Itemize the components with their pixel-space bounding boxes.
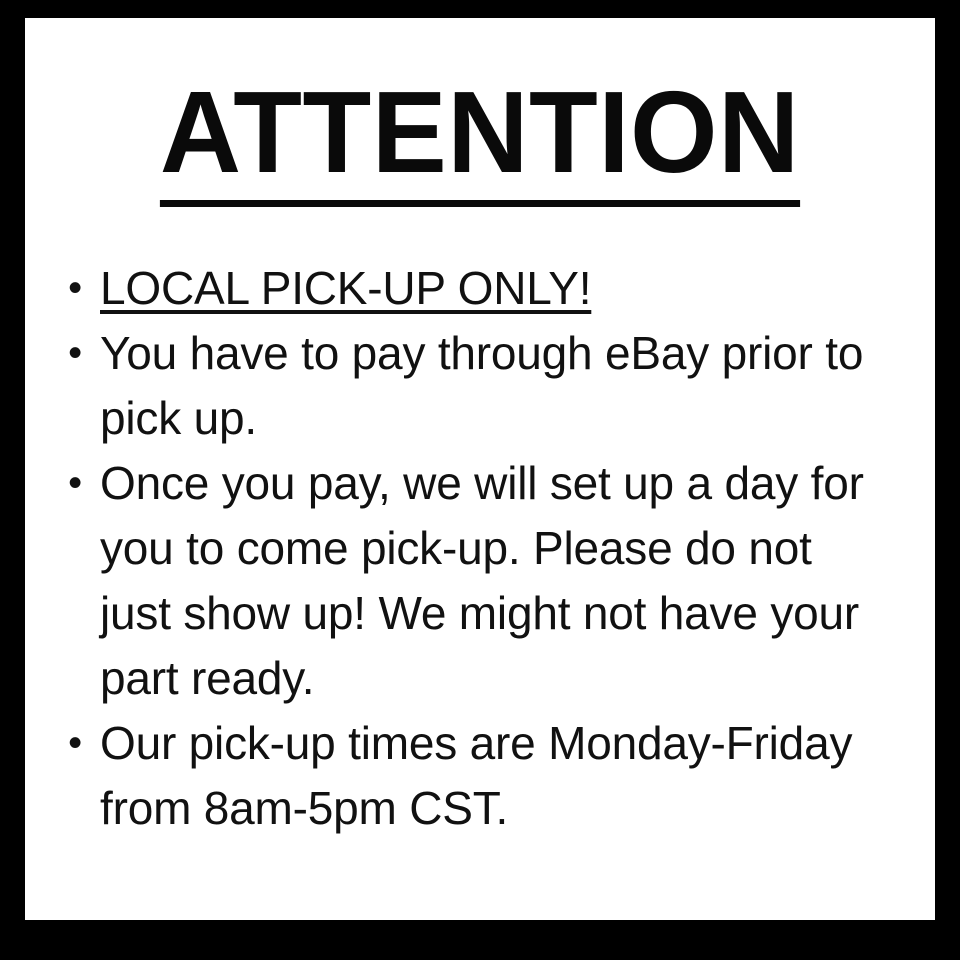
notice-frame: ATTENTION • LOCAL PICK-UP ONLY! • You ha…: [0, 0, 960, 960]
list-item: • LOCAL PICK-UP ONLY!: [25, 256, 935, 321]
notice-bullet-list: • LOCAL PICK-UP ONLY! • You have to pay …: [25, 256, 935, 841]
list-item: • Once you pay, we will set up a day for…: [25, 451, 935, 711]
bullet-icon: •: [64, 451, 86, 516]
list-item-label: Our pick-up times are Monday-Friday from…: [100, 717, 852, 834]
page-title-text: ATTENTION: [160, 74, 800, 207]
list-item-label: LOCAL PICK-UP ONLY!: [100, 262, 591, 314]
notice-card: ATTENTION • LOCAL PICK-UP ONLY! • You ha…: [25, 18, 935, 920]
bullet-icon: •: [64, 256, 86, 321]
list-item-label: You have to pay through eBay prior to pi…: [100, 327, 863, 444]
list-item-label: Once you pay, we will set up a day for y…: [100, 457, 864, 704]
bullet-icon: •: [64, 711, 86, 776]
bullet-icon: •: [64, 321, 86, 386]
page-title: ATTENTION: [25, 74, 935, 207]
list-item: • You have to pay through eBay prior to …: [25, 321, 935, 451]
list-item: • Our pick-up times are Monday-Friday fr…: [25, 711, 935, 841]
